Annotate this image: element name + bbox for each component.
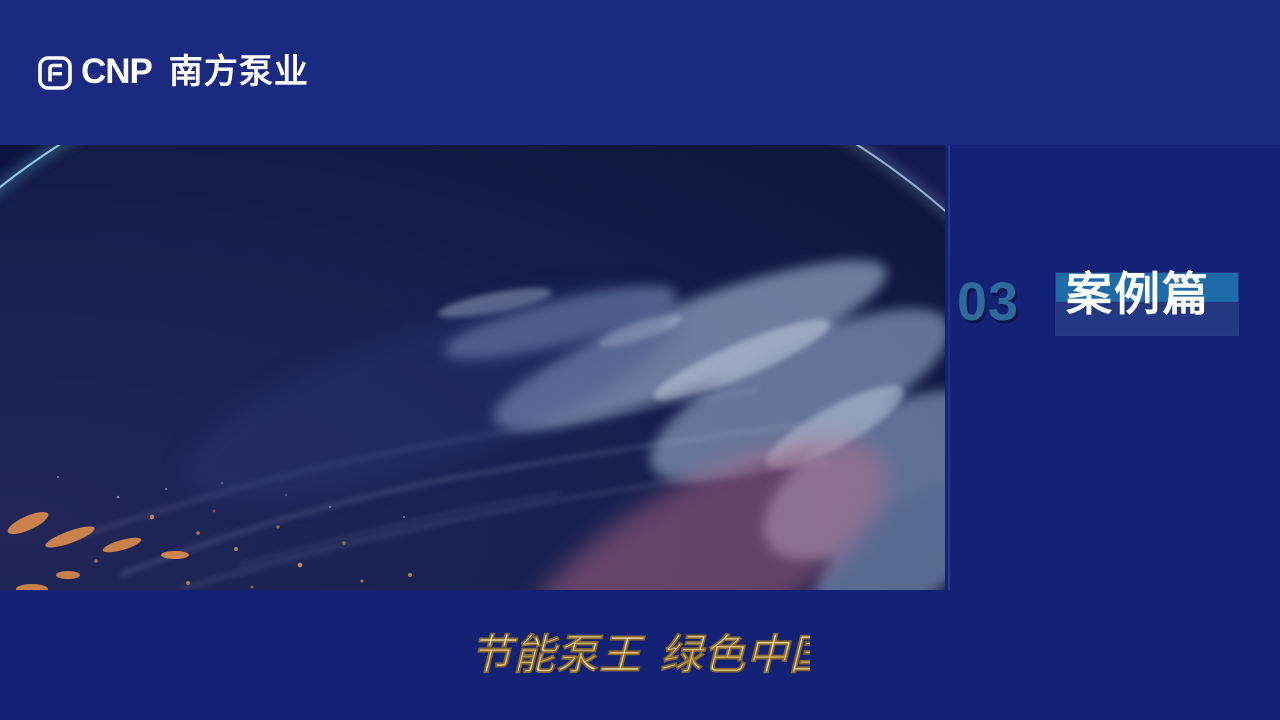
- slogan-right-text: 绿色中国: [660, 630, 810, 679]
- cnp-monogram-icon: [38, 56, 72, 90]
- slogan-gold-text-icon: 节能泵王 绿色中国: [470, 624, 810, 686]
- slogan-left-text: 节能泵王: [470, 630, 646, 679]
- section-number: 03: [957, 275, 1019, 329]
- logo-chinese-text: 南方泵业: [169, 55, 309, 89]
- page-title: 案例篇: [1066, 271, 1210, 317]
- slide-footer: 节能泵王 绿色中国: [0, 590, 1280, 720]
- brand-logo[interactable]: CNP 南方泵业: [38, 55, 309, 90]
- slide-header: CNP 南方泵业: [0, 0, 1280, 145]
- hero-earth-image: [0, 145, 945, 590]
- footer-slogan: 节能泵王 绿色中国: [0, 590, 1280, 691]
- slide-root: CNP 南方泵业: [0, 0, 1280, 720]
- section-panel: 03 案例篇: [950, 145, 1280, 590]
- logo-latin-text: CNP: [81, 54, 152, 89]
